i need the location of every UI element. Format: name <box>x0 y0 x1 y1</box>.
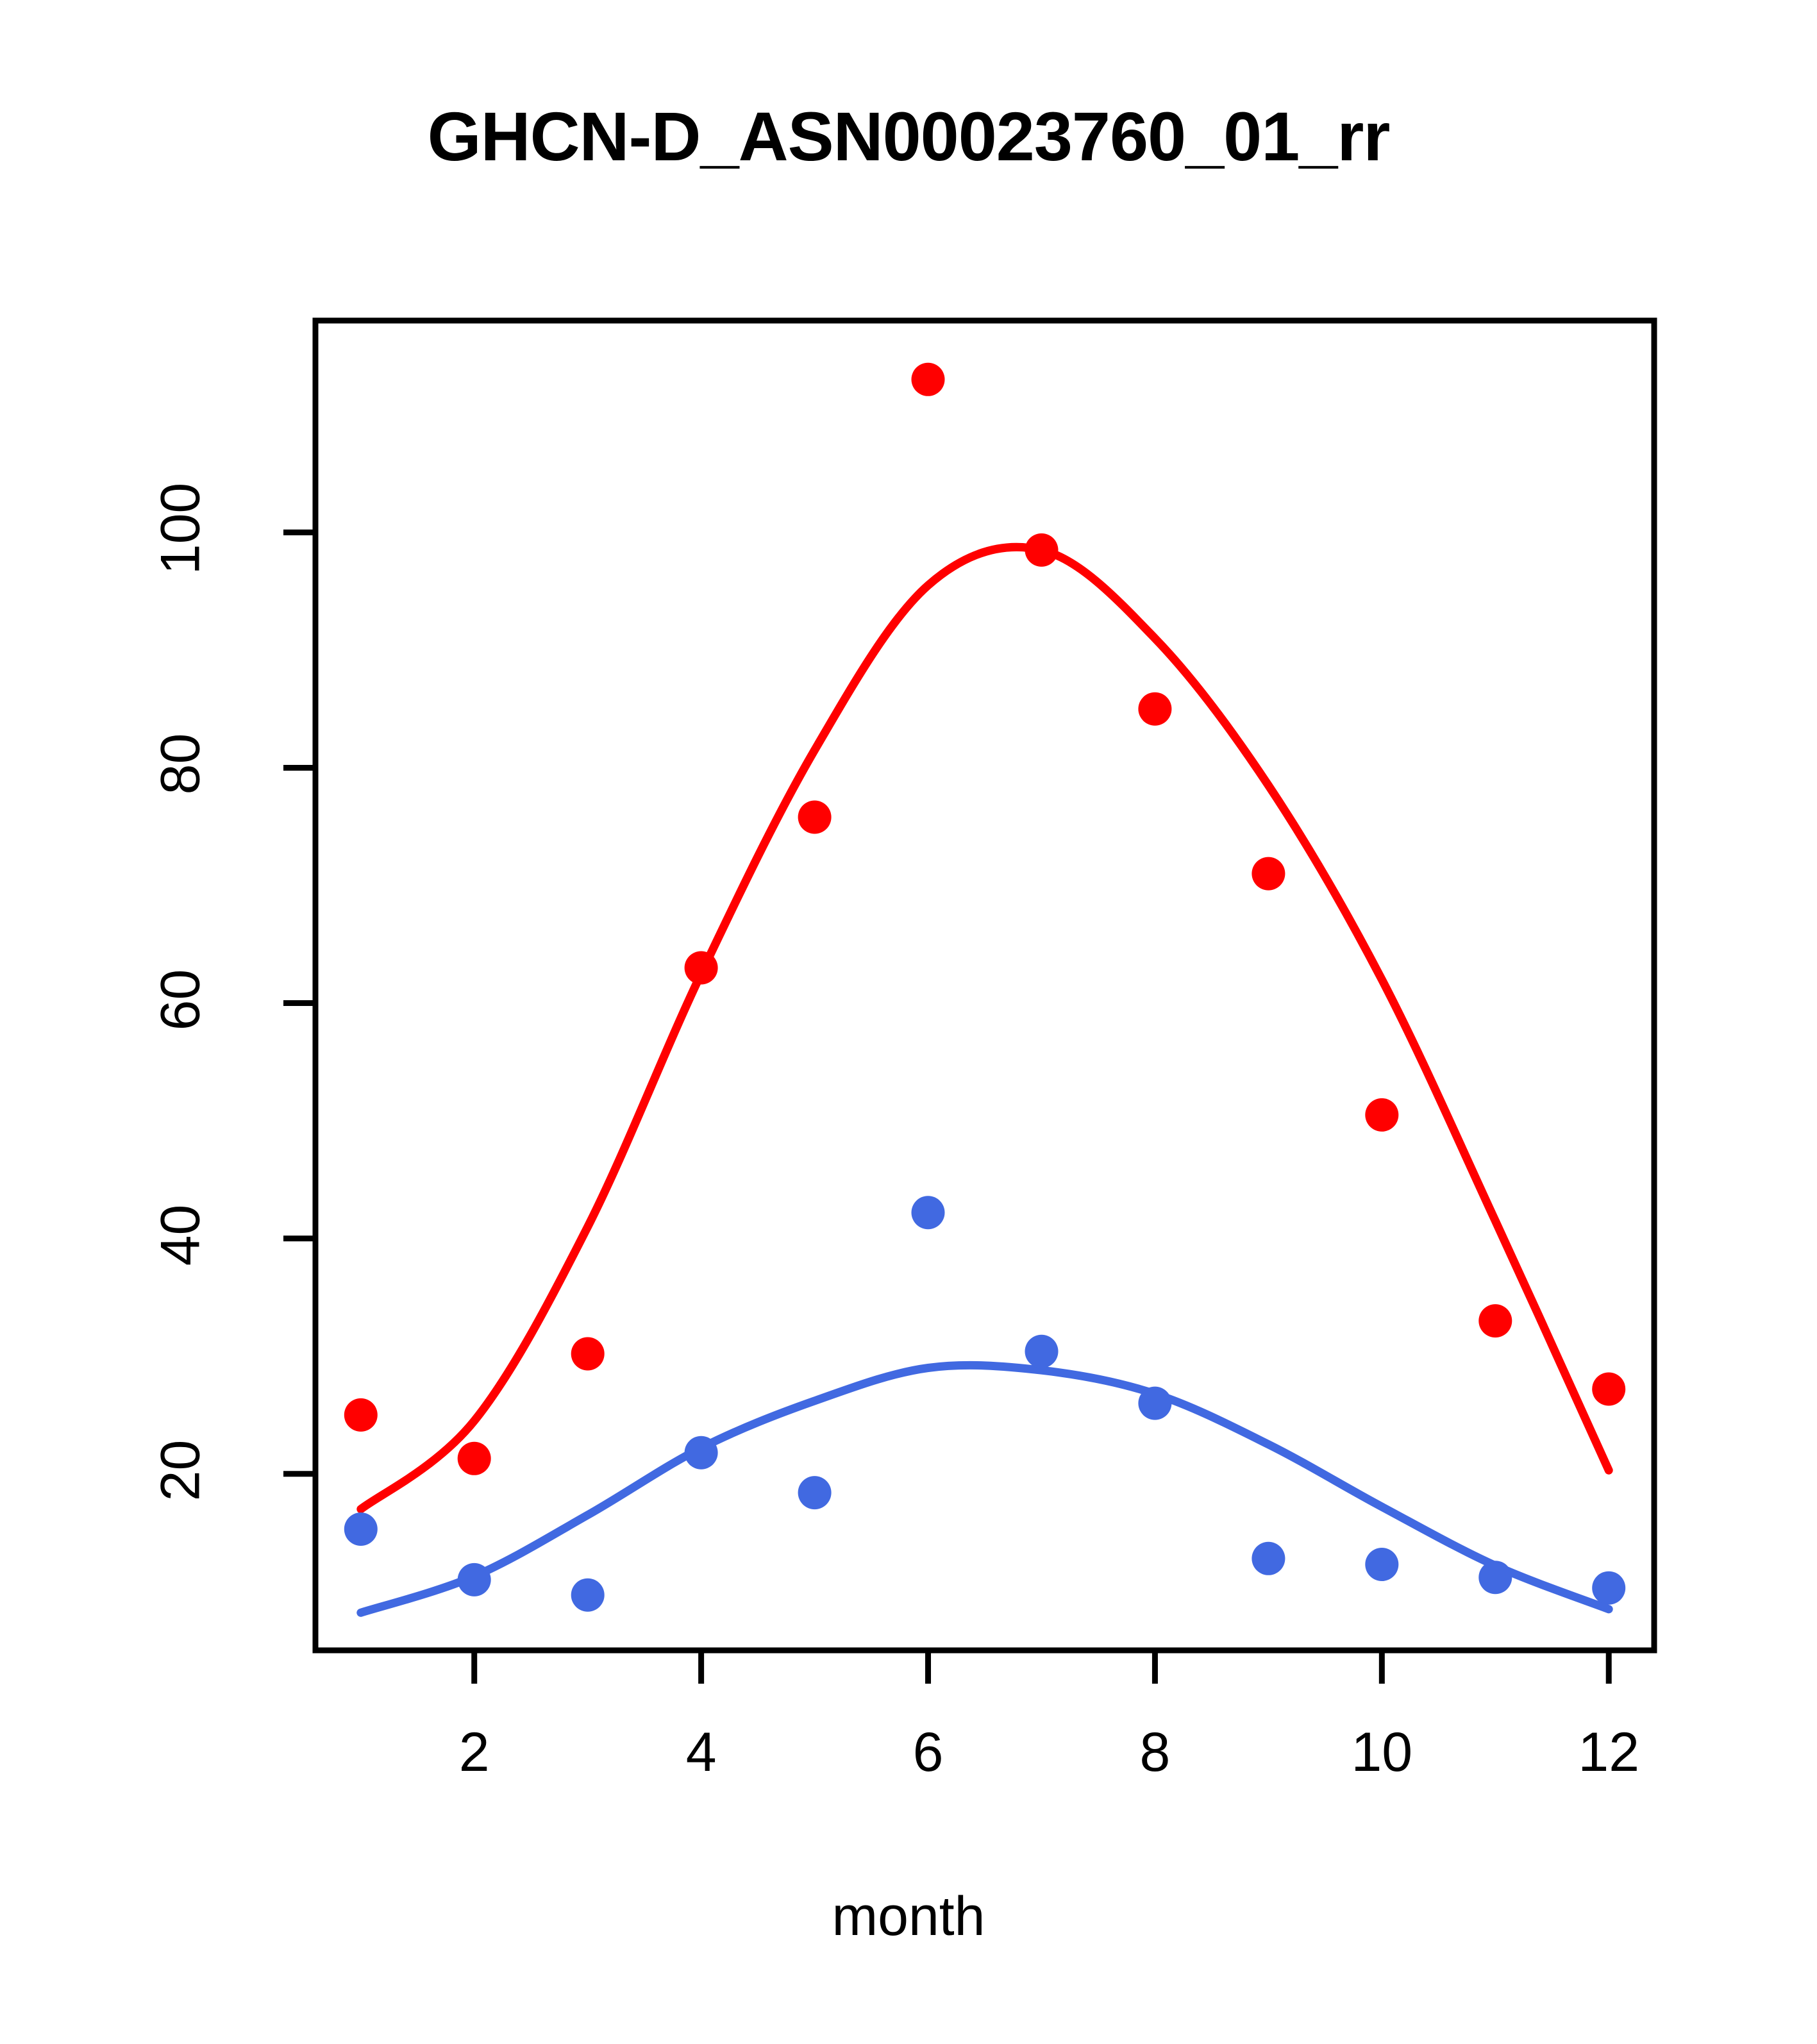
data-point-red-points <box>1252 857 1285 891</box>
data-point-red-points <box>458 1442 491 1475</box>
data-point-red-points <box>798 801 832 834</box>
x-tick-label: 4 <box>605 1721 798 1784</box>
data-point-blue-points <box>912 1196 945 1229</box>
axes-group <box>283 321 1654 1684</box>
x-tick-label: 2 <box>378 1721 571 1784</box>
data-point-blue-points <box>798 1476 832 1509</box>
chart-page: GHCN-D_ASN00023760_01_rr 204060801002468… <box>0 0 1817 2044</box>
data-point-blue-points <box>685 1436 718 1470</box>
series-line-blue-smooth <box>361 1365 1609 1613</box>
data-point-red-points <box>1365 1098 1398 1132</box>
x-axis-label: month <box>0 1885 1817 1948</box>
x-tick-label: 6 <box>832 1721 1025 1784</box>
data-point-red-points <box>912 363 945 396</box>
data-point-blue-points <box>458 1563 491 1596</box>
x-tick-label: 10 <box>1285 1721 1478 1784</box>
data-point-blue-points <box>1138 1387 1171 1420</box>
data-point-blue-points <box>1365 1548 1398 1581</box>
x-tick-label: 8 <box>1059 1721 1251 1784</box>
data-point-blue-points <box>1025 1335 1059 1368</box>
data-point-red-points <box>571 1337 605 1371</box>
data-point-blue-points <box>1592 1571 1625 1605</box>
data-point-blue-points <box>344 1512 378 1546</box>
y-tick-label: 80 <box>149 687 213 841</box>
data-point-red-points <box>344 1398 378 1432</box>
data-point-red-points <box>685 951 718 985</box>
data-point-blue-points <box>571 1579 605 1612</box>
y-tick-label: 20 <box>149 1393 213 1547</box>
data-point-blue-points <box>1252 1542 1285 1575</box>
y-tick-label: 60 <box>149 923 213 1076</box>
data-point-red-points <box>1025 533 1059 567</box>
data-point-red-points <box>1138 692 1171 726</box>
y-tick-label: 100 <box>149 452 213 606</box>
data-point-blue-points <box>1478 1561 1512 1594</box>
data-point-red-points <box>1592 1373 1625 1406</box>
data-point-red-points <box>1478 1304 1512 1337</box>
x-tick-label: 12 <box>1512 1721 1705 1784</box>
plot-box <box>315 321 1654 1650</box>
y-tick-label: 40 <box>149 1158 213 1312</box>
series-group <box>344 363 1625 1613</box>
